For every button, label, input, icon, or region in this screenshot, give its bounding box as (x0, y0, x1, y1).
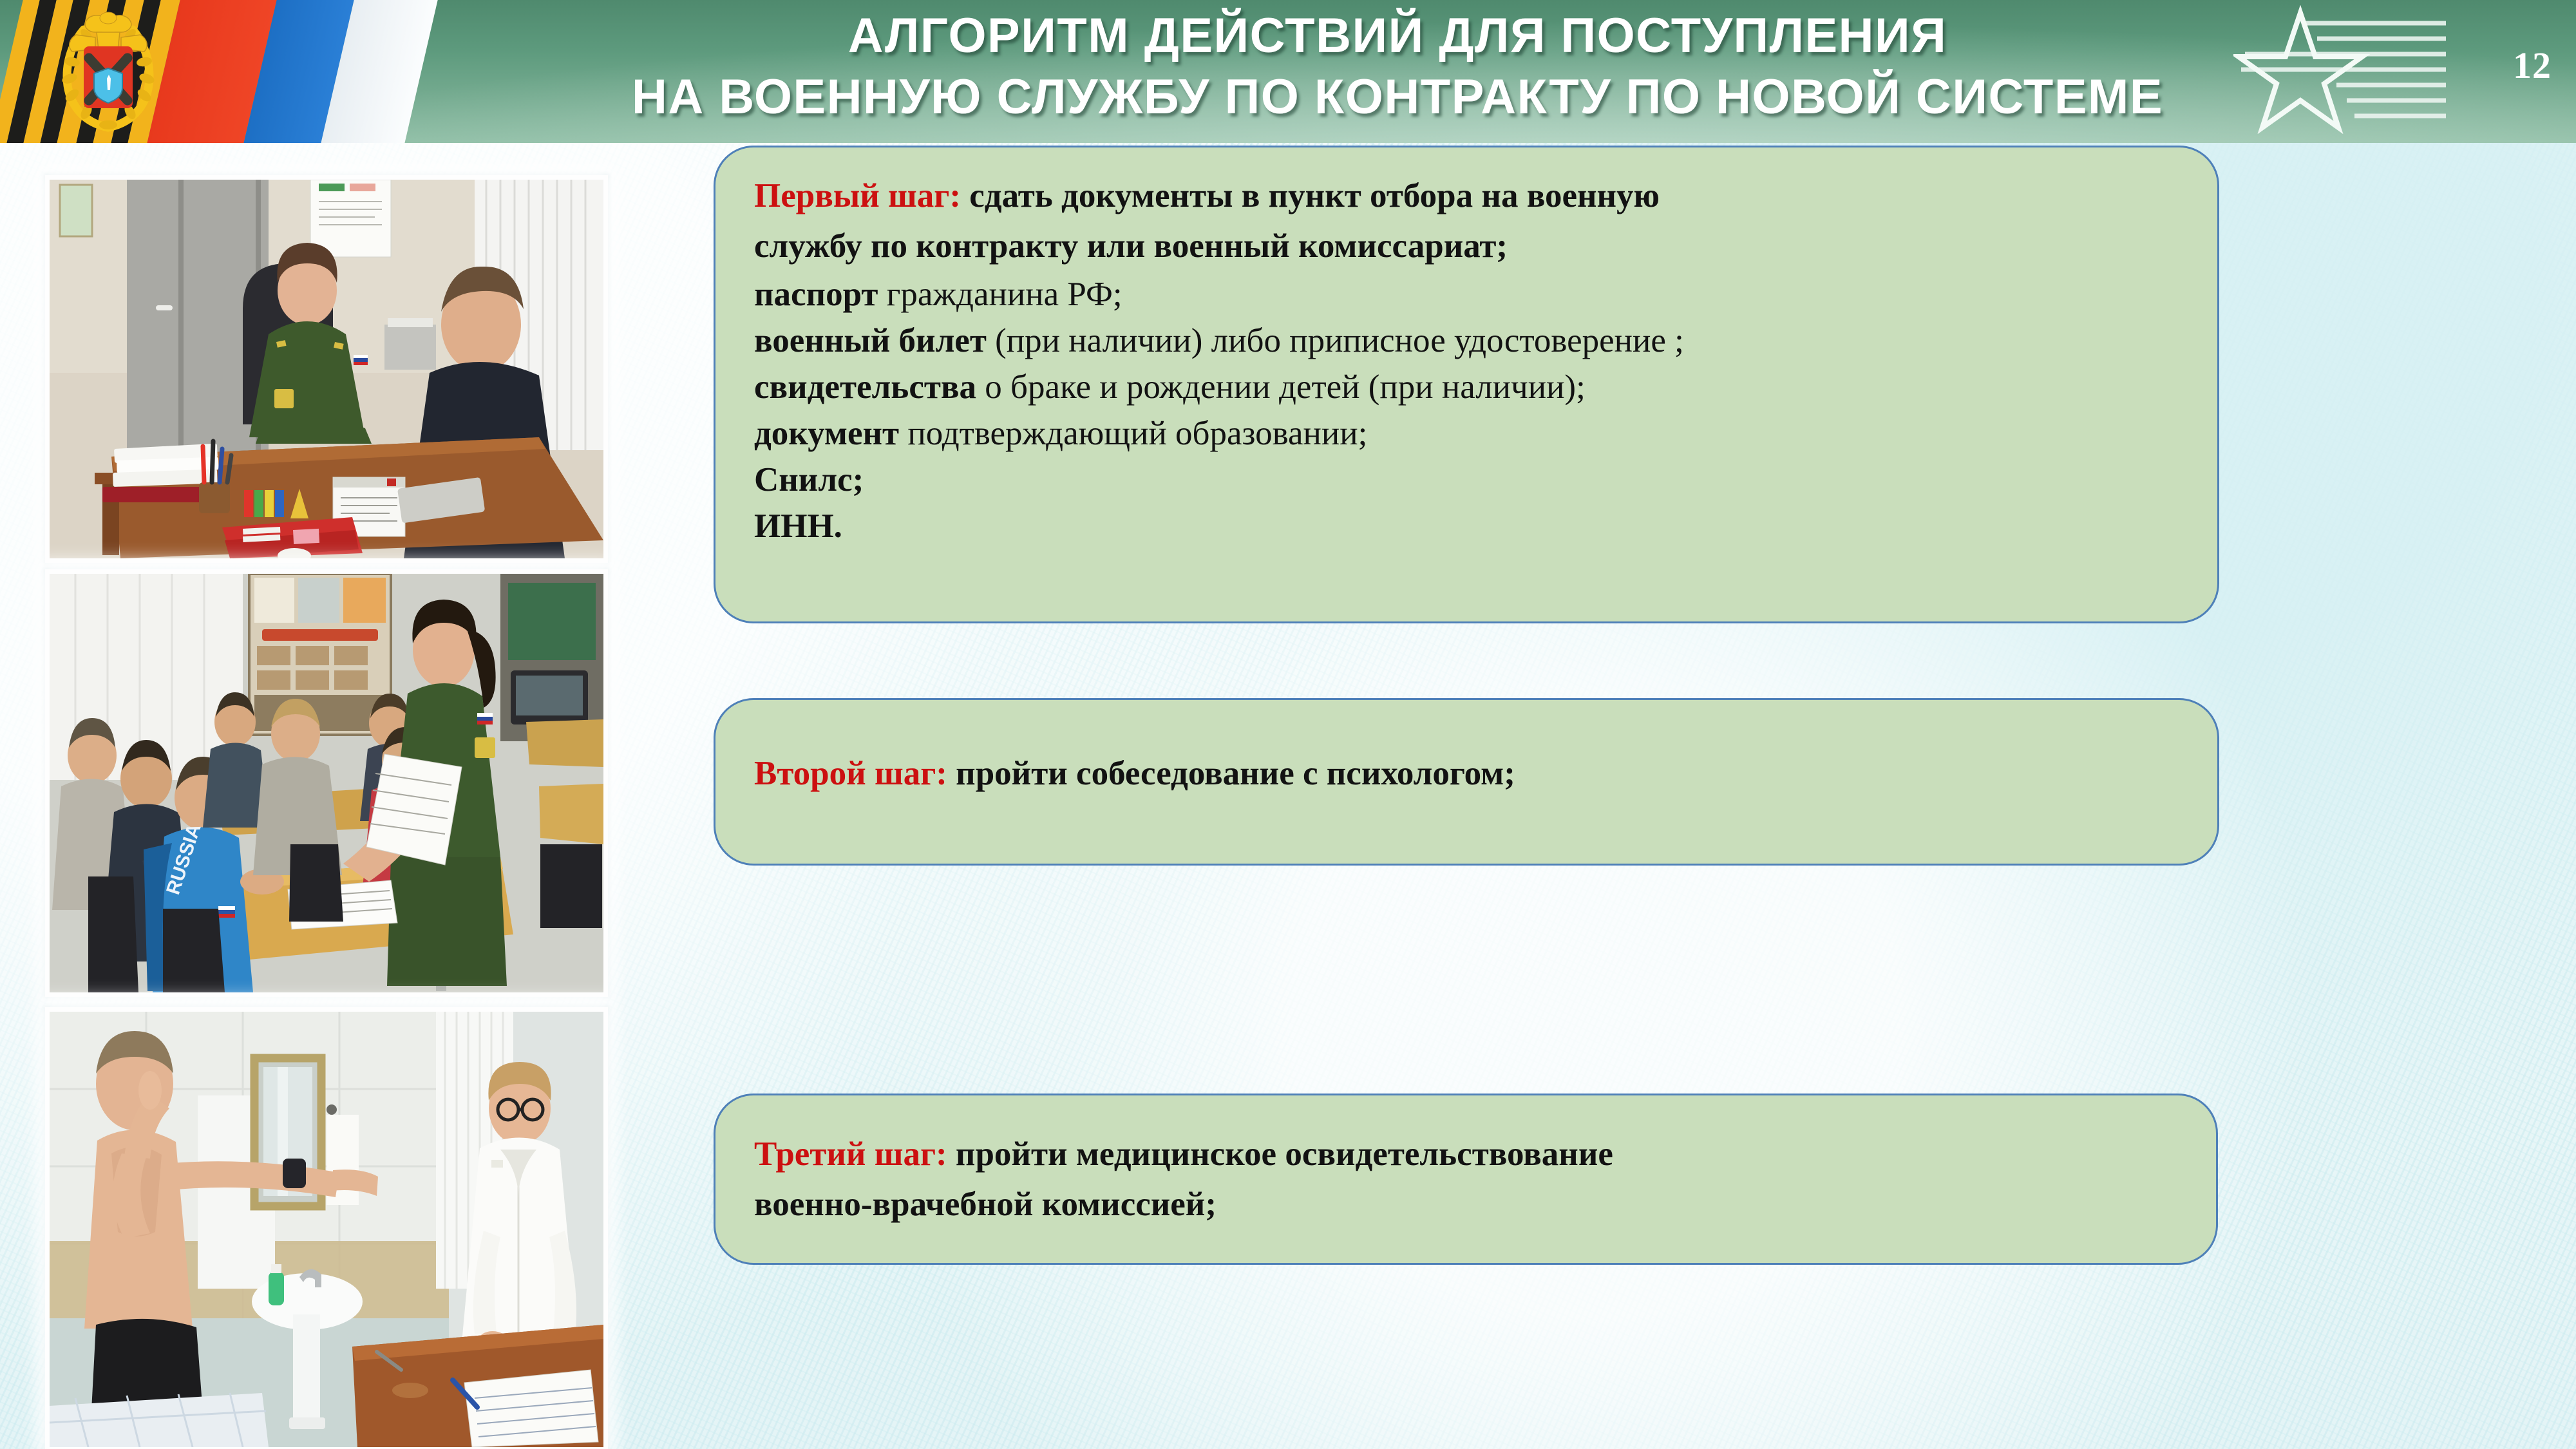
step-1-document-list: паспорт гражданина РФ; военный билет (пр… (754, 271, 2188, 549)
step-1-word-1: сдать (969, 177, 1053, 214)
document-item-detail: подтверждающий образовании; (899, 415, 1367, 452)
photo-psychologist-interview: RUSSIA (45, 569, 608, 997)
step-1-headline-line-2: службу по контракту или военный комиссар… (754, 221, 2188, 271)
russian-mod-emblem-icon (50, 6, 166, 132)
page-title-line-2: НА ВОЕННУЮ СЛУЖБУ ПО КОНТРАКТУ ПО НОВОЙ … (502, 66, 2293, 128)
slide-root: АЛГОРИТМ ДЕЙСТВИЙ ДЛЯ ПОСТУПЛЕНИЯ НА ВОЕ… (0, 0, 2576, 1449)
document-item-name: Снилс; (754, 461, 864, 498)
step-2-card: Второй шаг: пройти собеседование с психо… (714, 698, 2219, 866)
photo-document-submission (45, 175, 608, 563)
step-2-lead-label: Второй шаг: (754, 755, 947, 792)
document-item: ИНН. (754, 503, 2188, 549)
step-1-word-5: отбора (1370, 177, 1473, 214)
document-item: свидетельства о браке и рождении детей (… (754, 364, 2188, 410)
document-item-name: ИНН. (754, 507, 842, 545)
document-item-detail: (при наличии) либо приписное удостоверен… (987, 322, 1684, 359)
step-1-word-6: на (1481, 177, 1518, 214)
document-item: документ подтверждающий образовании; (754, 410, 2188, 457)
step-3-word-1: пройти (956, 1135, 1068, 1173)
step-3-headline-line-2: военно-врачебной комиссией; (754, 1179, 2186, 1229)
photo-medical-examination (45, 1007, 608, 1449)
step-3-word-2: медицинское (1076, 1135, 1276, 1173)
step-1-word-3: в (1242, 177, 1260, 214)
step-2-headline: Второй шаг: пройти собеседование с психо… (754, 748, 2188, 799)
page-title: АЛГОРИТМ ДЕЙСТВИЙ ДЛЯ ПОСТУПЛЕНИЯ НА ВОЕ… (502, 5, 2293, 128)
document-item: Снилс; (754, 457, 2188, 503)
step-3-headline-line-1: Третий шаг: пройти медицинское освидетел… (754, 1129, 2186, 1179)
document-item-name: военный билет (754, 322, 987, 359)
step-1-card: Первый шаг: сдать документы в пункт отбо… (714, 146, 2219, 623)
document-item-detail: гражданина РФ; (878, 276, 1122, 313)
step-1-lead-label: Первый шаг: (754, 177, 961, 214)
page-number: 12 (2513, 44, 2552, 87)
step-1-word-4: пункт (1269, 177, 1361, 214)
step-3-headline: Третий шаг: пройти медицинское освидетел… (754, 1129, 2186, 1229)
slide-header: АЛГОРИТМ ДЕЙСТВИЙ ДЛЯ ПОСТУПЛЕНИЯ НА ВОЕ… (0, 0, 2576, 143)
document-item-name: паспорт (754, 276, 878, 313)
step-3-card: Третий шаг: пройти медицинское освидетел… (714, 1094, 2218, 1265)
step-1-word-7: военную (1527, 177, 1660, 214)
document-item-name: документ (754, 415, 899, 452)
step-3-lead-label: Третий (754, 1135, 866, 1173)
step-3-lead-label-2: шаг: (875, 1135, 947, 1173)
document-item: военный билет (при наличии) либо приписн… (754, 317, 2188, 364)
step-1-headline-line-1: Первый шаг: сдать документы в пункт отбо… (754, 171, 2188, 221)
document-item: паспорт гражданина РФ; (754, 271, 2188, 317)
step-1-headline: Первый шаг: сдать документы в пункт отбо… (754, 171, 2188, 271)
page-title-line-1: АЛГОРИТМ ДЕЙСТВИЙ ДЛЯ ПОСТУПЛЕНИЯ (502, 5, 2293, 66)
step-3-word-3: освидетельствование (1285, 1135, 1613, 1173)
step-2-text: пройти собеседование с психологом; (947, 755, 1515, 792)
step-1-word-2: документы (1061, 177, 1233, 214)
document-item-detail: о браке и рождении детей (при наличии); (976, 368, 1586, 406)
document-item-name: свидетельства (754, 368, 976, 406)
